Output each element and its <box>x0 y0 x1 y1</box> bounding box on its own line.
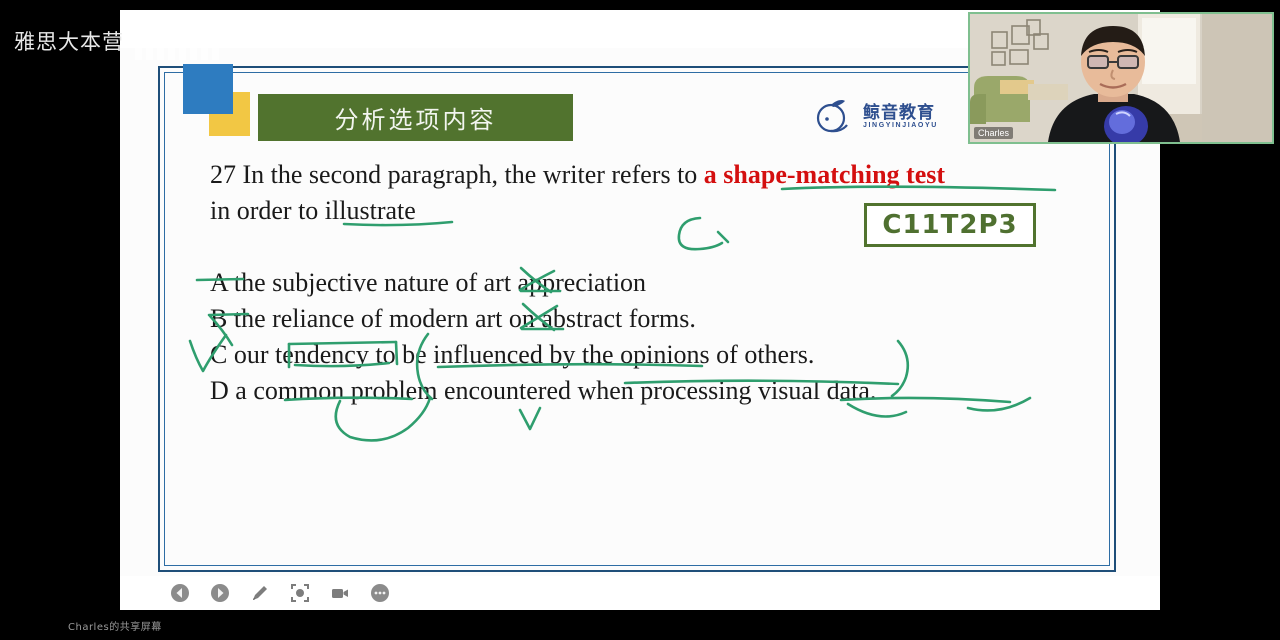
option-b: B the reliance of modern art on abstract… <box>210 301 696 337</box>
channel-watermark: 雅思大本营 <box>14 26 124 56</box>
test-code-badge: C11T2P3 <box>864 203 1036 247</box>
next-slide-button[interactable] <box>210 583 230 603</box>
record-video-button[interactable] <box>330 583 350 603</box>
option-a: A the subjective nature of art appreciat… <box>210 265 646 301</box>
brand-name-en: JINGYINJIAOYU <box>863 122 938 129</box>
slide-toolbar <box>158 576 1116 610</box>
more-options-button[interactable] <box>370 583 390 603</box>
webcam-video-frame <box>970 14 1272 142</box>
slide-title-text: 分析选项内容 <box>335 100 497 135</box>
test-code-text: C11T2P3 <box>882 210 1017 240</box>
webcam-participant-name: Charles <box>974 127 1013 139</box>
whale-logo-icon <box>812 98 856 136</box>
screen-share-root: 雅思大本营 <box>0 0 1280 640</box>
question-line-1: 27 In the second paragraph, the writer r… <box>210 157 945 193</box>
share-status-bar: Charles的共享屏幕 <box>0 610 1280 640</box>
brand-name-cn: 鲸音教育 <box>863 105 938 123</box>
annotate-pencil-button[interactable] <box>250 583 270 603</box>
webcam-pip[interactable]: Charles <box>968 12 1274 144</box>
decorative-blue-square <box>183 64 233 114</box>
slide-title-banner: 分析选项内容 <box>258 94 573 141</box>
question-stem-text: 27 In the second paragraph, the writer r… <box>210 160 704 189</box>
watermark-glyph-icon <box>133 20 229 60</box>
screenshot-button[interactable] <box>290 583 310 603</box>
brand-logo: 鲸音教育 JINGYINJIAOYU <box>812 93 962 141</box>
question-line-2: in order to illustrate <box>210 193 416 229</box>
option-c: C our tendency to be influenced by the o… <box>210 337 814 373</box>
question-highlight-text: a shape-matching test <box>704 160 945 189</box>
option-d: D a common problem encountered when proc… <box>210 373 876 409</box>
previous-slide-button[interactable] <box>170 583 190 603</box>
share-status-text: Charles的共享屏幕 <box>68 618 162 633</box>
